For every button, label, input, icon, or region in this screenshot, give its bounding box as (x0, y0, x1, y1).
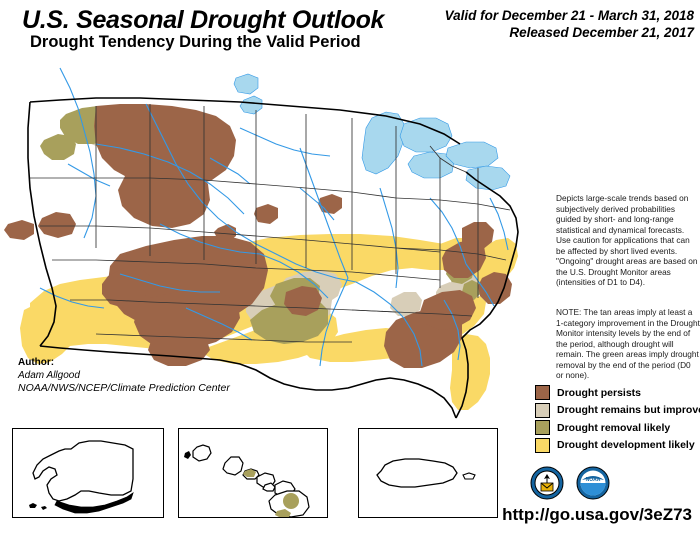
puerto-rico-vieques (463, 473, 475, 479)
noaa-seal-icon: NOAA (576, 466, 610, 500)
legend: Drought persists Drought remains but imp… (535, 384, 700, 454)
agency-logos: NOAA (530, 466, 610, 500)
author-block: Author: Adam Allgood NOAA/NWS/NCEP/Clima… (18, 357, 230, 395)
hawaii-shape (179, 429, 327, 517)
puerto-rico-shape (359, 429, 497, 517)
valid-period-text: Valid for December 21 - March 31, 2018 (445, 8, 694, 23)
legend-item-persists: Drought persists (535, 384, 700, 402)
released-date-text: Released December 21, 2017 (509, 25, 694, 40)
puerto-rico-outline (377, 459, 457, 487)
alaska-islands (29, 503, 47, 510)
page-title: U.S. Seasonal Drought Outlook (22, 6, 384, 35)
legend-label-removal-likely: Drought removal likely (557, 422, 670, 434)
author-label: Author: (18, 357, 230, 370)
author-organization: NOAA/NWS/NCEP/Climate Prediction Center (18, 382, 230, 395)
great-lakes (234, 74, 510, 190)
legend-item-development-likely: Drought development likely (535, 437, 700, 455)
legend-label-persists: Drought persists (557, 387, 641, 399)
hawaii-niihau (184, 451, 191, 459)
legend-item-removal-likely: Drought removal likely (535, 419, 700, 437)
author-name: Adam Allgood (18, 370, 230, 383)
legend-swatch-persists (535, 385, 550, 400)
nws-seal-icon (530, 466, 564, 500)
drought-outlook-map: U.S. Seasonal Drought Outlook Drought Te… (0, 0, 700, 540)
legend-item-remains-but-improves: Drought remains but improves (535, 402, 700, 420)
inset-map-puerto-rico (358, 428, 498, 518)
legend-swatch-remains-but-improves (535, 403, 550, 418)
inset-map-alaska (12, 428, 164, 518)
legend-label-development-likely: Drought development likely (557, 439, 695, 451)
legend-label-remains-but-improves: Drought remains but improves (557, 404, 700, 416)
alaska-shape (13, 429, 163, 517)
svg-text:NOAA: NOAA (586, 477, 601, 483)
alaska-outline (33, 441, 133, 501)
note-text: NOTE: The tan areas imply at least a 1-c… (556, 307, 700, 381)
inset-map-hawaii (178, 428, 328, 518)
legend-swatch-removal-likely (535, 420, 550, 435)
description-text: Depicts large-scale trends based on subj… (556, 193, 700, 288)
source-url[interactable]: http://go.usa.gov/3eZ73 (502, 505, 692, 525)
legend-swatch-development-likely (535, 438, 550, 453)
